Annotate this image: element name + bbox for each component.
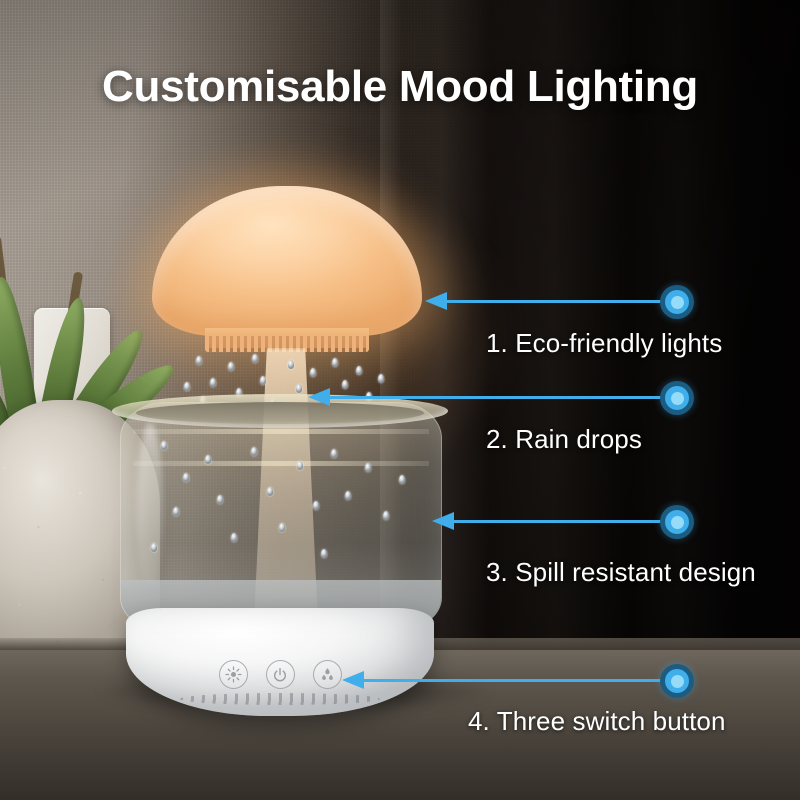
callout-arrow-2 bbox=[308, 388, 330, 406]
callout-dot-1[interactable] bbox=[660, 285, 694, 319]
callout-arrow-4 bbox=[342, 671, 364, 689]
callout-arrow-3 bbox=[432, 512, 454, 530]
callout-leader-3 bbox=[454, 520, 677, 523]
callout-layer: 1. Eco-friendly lights 2. Rain drops 3. … bbox=[0, 0, 800, 800]
callout-dot-4[interactable] bbox=[660, 664, 694, 698]
callout-leader-2 bbox=[330, 396, 677, 399]
callout-leader-4 bbox=[364, 679, 677, 682]
product-infographic: Customisable Mood Lighting 1. Eco-friend… bbox=[0, 0, 800, 800]
callout-leader-1 bbox=[447, 300, 677, 303]
callout-label-4: 4. Three switch button bbox=[468, 706, 726, 737]
callout-dot-3[interactable] bbox=[660, 505, 694, 539]
callout-label-3: 3. Spill resistant design bbox=[486, 557, 756, 588]
callout-dot-2[interactable] bbox=[660, 381, 694, 415]
callout-arrow-1 bbox=[425, 292, 447, 310]
callout-label-1: 1. Eco-friendly lights bbox=[486, 328, 722, 359]
callout-label-2: 2. Rain drops bbox=[486, 424, 642, 455]
